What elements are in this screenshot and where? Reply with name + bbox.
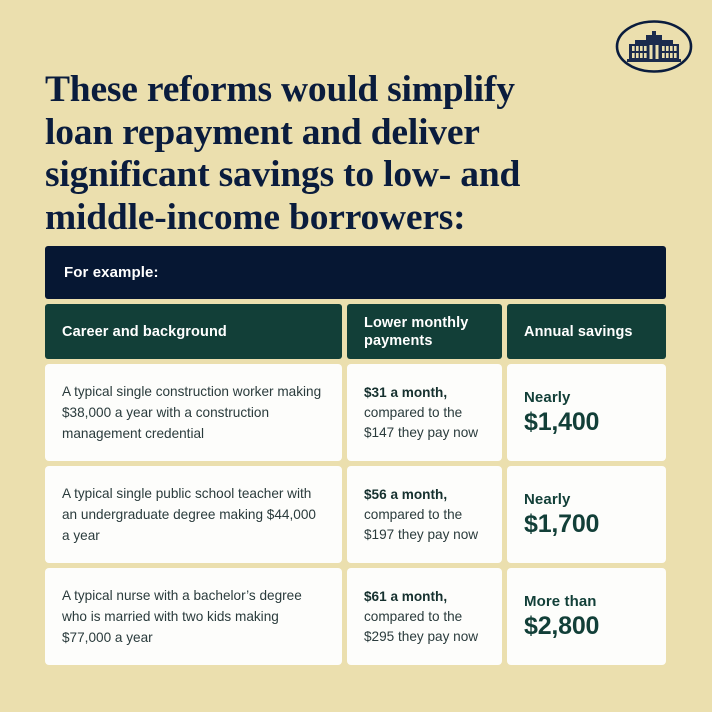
payment-comparison: compared to the $147 they pay now <box>364 403 485 443</box>
savings-qualifier: Nearly <box>524 388 649 407</box>
table-row: A typical nurse with a bachelor’s degree… <box>45 568 666 665</box>
column-header-career-label: Career and background <box>62 323 227 341</box>
example-table: For example: Career and background Lower… <box>45 246 666 665</box>
cell-lower-monthly-payment: $61 a month, compared to the $295 they p… <box>347 568 502 665</box>
white-house-seal-icon <box>615 20 693 73</box>
table-row: A typical single construction worker mak… <box>45 364 666 461</box>
column-header-career: Career and background <box>45 304 342 359</box>
payment-amount: $56 a month, <box>364 485 485 505</box>
cell-career: A typical nurse with a bachelor’s degree… <box>45 568 342 665</box>
cell-annual-savings: Nearly $1,400 <box>507 364 666 461</box>
savings-qualifier: Nearly <box>524 490 649 509</box>
table-header-row: Career and background Lower monthly paym… <box>45 304 666 359</box>
career-text: A typical single construction worker mak… <box>62 381 325 444</box>
cell-career: A typical single construction worker mak… <box>45 364 342 461</box>
cell-annual-savings: More than $2,800 <box>507 568 666 665</box>
savings-amount: $1,700 <box>524 510 649 539</box>
column-header-lower-monthly-payments: Lower monthly payments <box>347 304 502 359</box>
cell-career: A typical single public school teacher w… <box>45 466 342 563</box>
infographic-page: These reforms would simplify loan repaym… <box>0 0 712 712</box>
savings-amount: $1,400 <box>524 408 649 437</box>
cell-annual-savings: Nearly $1,700 <box>507 466 666 563</box>
cell-lower-monthly-payment: $56 a month, compared to the $197 they p… <box>347 466 502 563</box>
page-title: These reforms would simplify loan repaym… <box>45 69 590 239</box>
table-row: A typical single public school teacher w… <box>45 466 666 563</box>
savings-qualifier: More than <box>524 592 649 611</box>
payment-amount: $31 a month, <box>364 383 485 403</box>
cell-lower-monthly-payment: $31 a month, compared to the $147 they p… <box>347 364 502 461</box>
table-banner: For example: <box>45 246 666 299</box>
column-header-lower-monthly-payments-label: Lower monthly payments <box>364 314 485 350</box>
savings-amount: $2,800 <box>524 612 649 641</box>
career-text: A typical single public school teacher w… <box>62 483 325 546</box>
column-header-annual-savings-label: Annual savings <box>524 323 633 341</box>
payment-comparison: compared to the $197 they pay now <box>364 505 485 545</box>
payment-amount: $61 a month, <box>364 587 485 607</box>
career-text: A typical nurse with a bachelor’s degree… <box>62 585 325 648</box>
column-header-annual-savings: Annual savings <box>507 304 666 359</box>
table-banner-label: For example: <box>64 264 159 281</box>
payment-comparison: compared to the $295 they pay now <box>364 607 485 647</box>
